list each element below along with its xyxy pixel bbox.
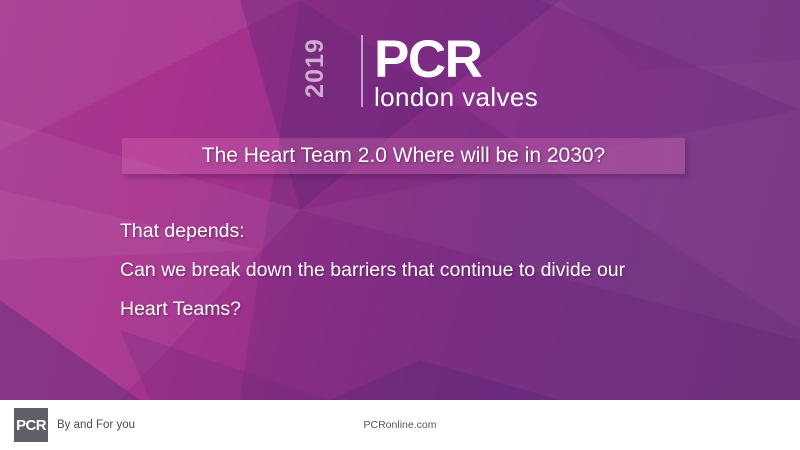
presentation-slide: 2019 PCR london valves The Heart Team 2.… [0, 0, 800, 450]
slide-title-banner: The Heart Team 2.0 Where will be in 2030… [122, 138, 685, 174]
slide-title: The Heart Team 2.0 Where will be in 2030… [202, 144, 606, 168]
logo-year: 2019 [301, 34, 327, 102]
logo-brand-subtitle: london valves [374, 84, 538, 110]
body-line-1: That depends: [120, 212, 740, 251]
slide-footer: PCR By and For you PCRonline.com EAPCI [0, 400, 800, 450]
pcr-london-valves-logo: 2019 PCR london valves [300, 33, 538, 110]
body-line-3: Heart Teams? [120, 290, 740, 329]
body-line-2: Can we break down the barriers that cont… [120, 251, 740, 290]
logo-wordmark: PCR london valves [374, 33, 538, 110]
footer-website: PCRonline.com [0, 419, 800, 431]
logo-brand: PCR [374, 33, 538, 77]
logo-divider [361, 35, 363, 107]
slide-body: That depends: Can we break down the barr… [120, 212, 740, 329]
